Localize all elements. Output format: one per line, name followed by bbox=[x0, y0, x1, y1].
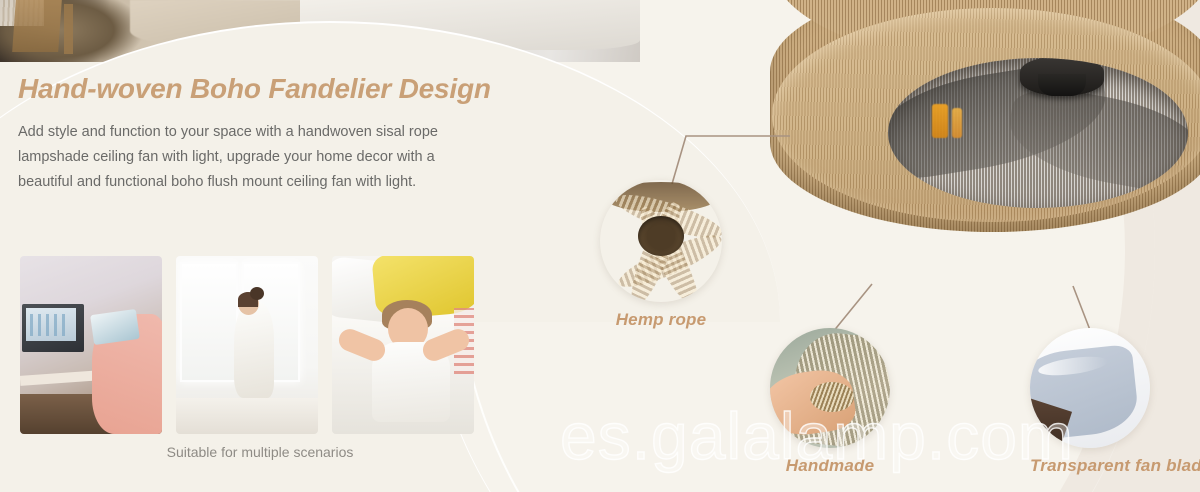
fan-blade-detail-2 bbox=[1002, 81, 1188, 198]
bed-frame-detail bbox=[12, 0, 62, 52]
floor-detail bbox=[176, 398, 318, 434]
person-body-detail bbox=[234, 302, 274, 398]
rope-drum-ceiling-fan bbox=[770, 0, 1200, 287]
window-detail-left bbox=[180, 262, 238, 382]
tablet-detail bbox=[90, 309, 140, 345]
rope-ball-center-hole bbox=[638, 216, 684, 256]
light-glow-detail-1 bbox=[932, 104, 948, 138]
scenario-caption: Suitable for multiple scenarios bbox=[20, 444, 500, 460]
text-column: Hand-woven Boho Fandelier Design Add sty… bbox=[18, 72, 578, 195]
scenario-photo-row bbox=[20, 256, 474, 434]
callout-label-hemp-rope: Hemp rope bbox=[600, 310, 722, 330]
product-banner: Hand-woven Boho Fandelier Design Add sty… bbox=[0, 0, 1200, 492]
fan-motor-cap bbox=[1038, 74, 1086, 96]
child-bedroom-photo bbox=[332, 256, 474, 434]
meditation-photo bbox=[176, 256, 318, 434]
hemp-rope-image bbox=[600, 180, 722, 302]
site-watermark: es.galalamp.com bbox=[560, 398, 1074, 474]
bed-post-detail bbox=[64, 4, 73, 54]
drum-shade-interior bbox=[888, 58, 1188, 208]
page-title: Hand-woven Boho Fandelier Design bbox=[18, 72, 578, 106]
chart-on-screen-detail bbox=[30, 314, 70, 336]
person-hair-bun-detail bbox=[250, 287, 264, 300]
body-copy: Add style and function to your space wit… bbox=[18, 120, 458, 195]
home-office-photo bbox=[20, 256, 162, 434]
light-glow-detail-2 bbox=[952, 108, 962, 138]
callout-hemp-rope: Hemp rope bbox=[600, 180, 722, 330]
